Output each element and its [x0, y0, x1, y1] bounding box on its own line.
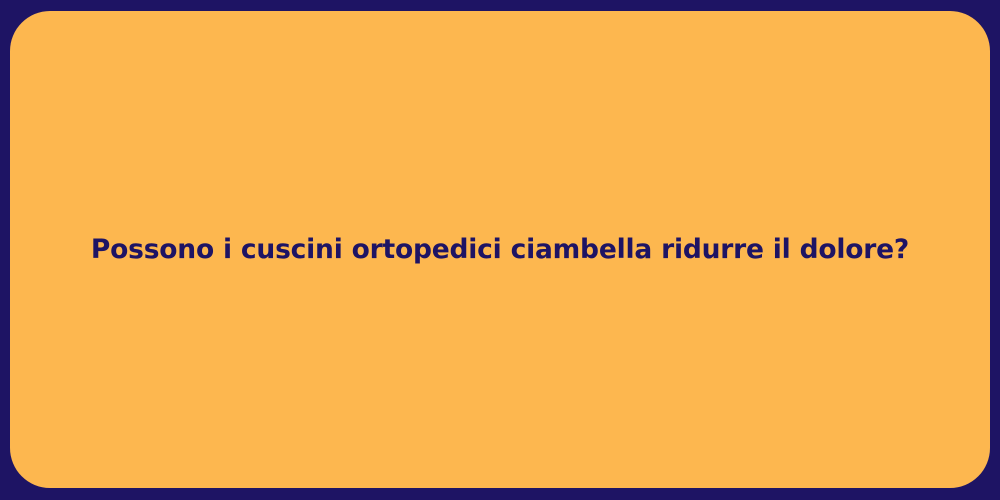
- headline-text: Possono i cuscini ortopedici ciambella r…: [91, 233, 909, 266]
- card-frame: Possono i cuscini ortopedici ciambella r…: [0, 0, 1000, 500]
- card-panel: Possono i cuscini ortopedici ciambella r…: [10, 11, 990, 488]
